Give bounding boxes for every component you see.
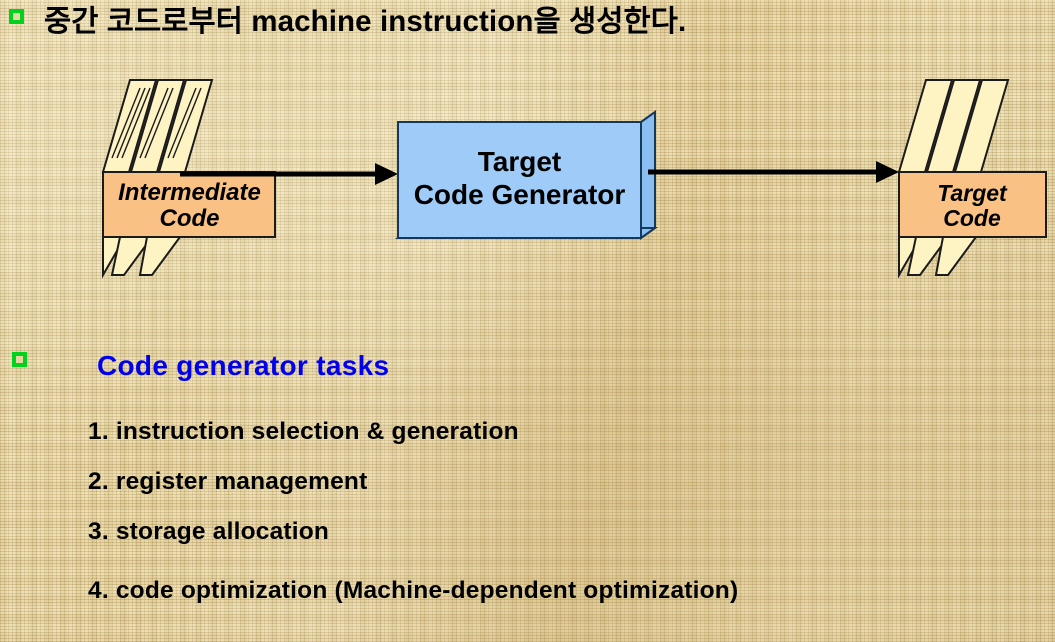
slide-canvas: 중간 코드로부터 machine instruction을 생성한다. xyxy=(0,0,1055,642)
task-item-3: 3. storage allocation xyxy=(88,516,329,548)
tasks-heading: Code generator tasks xyxy=(97,348,389,384)
input-node-label-line2: Code xyxy=(160,206,220,232)
input-node-label: Intermediate Code xyxy=(104,174,275,237)
arrow-process-to-output xyxy=(648,161,899,183)
input-node-label-line1: Intermediate xyxy=(118,180,261,206)
task-item-4: 4. code optimization (Machine-dependent … xyxy=(88,575,738,607)
green-square-bullet-icon xyxy=(12,352,27,367)
task-item-2: 2. register management xyxy=(88,466,367,498)
process-node-label: Target Code Generator xyxy=(398,122,641,234)
output-node-label-line2: Code xyxy=(943,206,1001,231)
output-node-label: Target Code xyxy=(899,174,1045,237)
process-node-label-line2: Code Generator xyxy=(414,178,626,211)
output-node-label-line1: Target xyxy=(937,181,1006,206)
task-item-1: 1. instruction selection & generation xyxy=(88,416,519,448)
process-node-label-line1: Target xyxy=(478,145,562,178)
